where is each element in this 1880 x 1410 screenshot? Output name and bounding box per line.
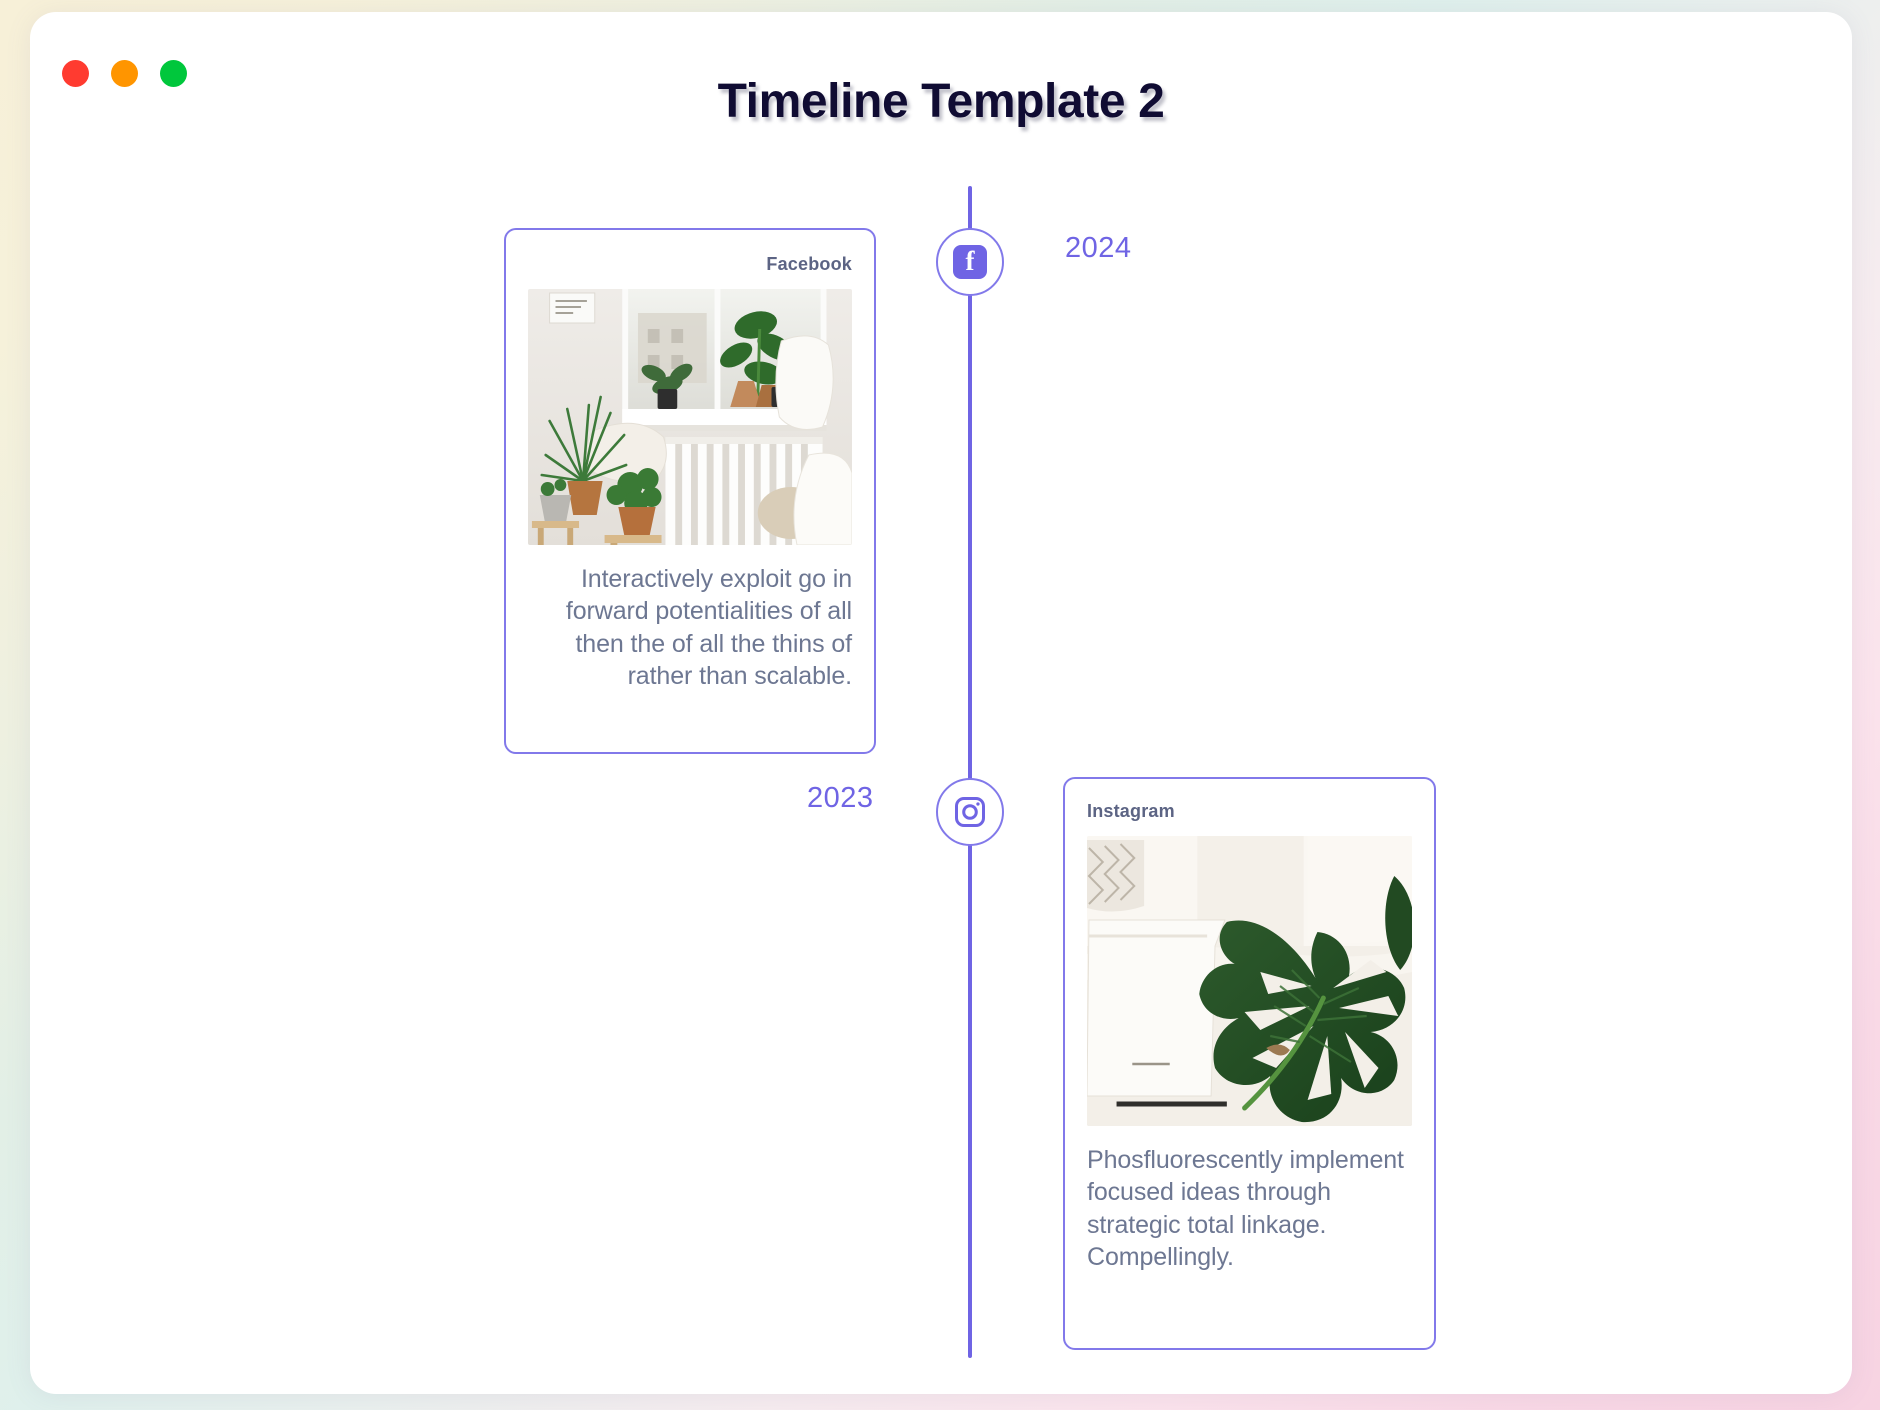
timeline-year-2023: 2023 — [807, 782, 874, 815]
card-photo-instagram — [1087, 836, 1412, 1126]
card-photo-facebook — [528, 289, 852, 545]
card-label-instagram: Instagram — [1087, 801, 1412, 822]
timeline-node-facebook[interactable] — [936, 228, 1004, 296]
timeline-year-2024: 2024 — [1065, 232, 1132, 265]
timeline-card-facebook[interactable]: Facebook — [504, 228, 876, 754]
timeline-axis — [968, 186, 972, 1358]
facebook-icon — [953, 245, 987, 279]
instagram-icon — [952, 794, 988, 830]
card-label-facebook: Facebook — [528, 254, 852, 275]
app-window: Timeline Template 2 2024 Facebook — [30, 12, 1852, 1394]
timeline-card-instagram[interactable]: Instagram — [1063, 777, 1436, 1350]
timeline-node-instagram[interactable] — [936, 778, 1004, 846]
timeline: 2024 Facebook — [30, 12, 1852, 1394]
card-text-instagram: Phosfluorescently implement focused idea… — [1087, 1144, 1412, 1273]
card-text-facebook: Interactively exploit go in forward pote… — [528, 563, 852, 692]
